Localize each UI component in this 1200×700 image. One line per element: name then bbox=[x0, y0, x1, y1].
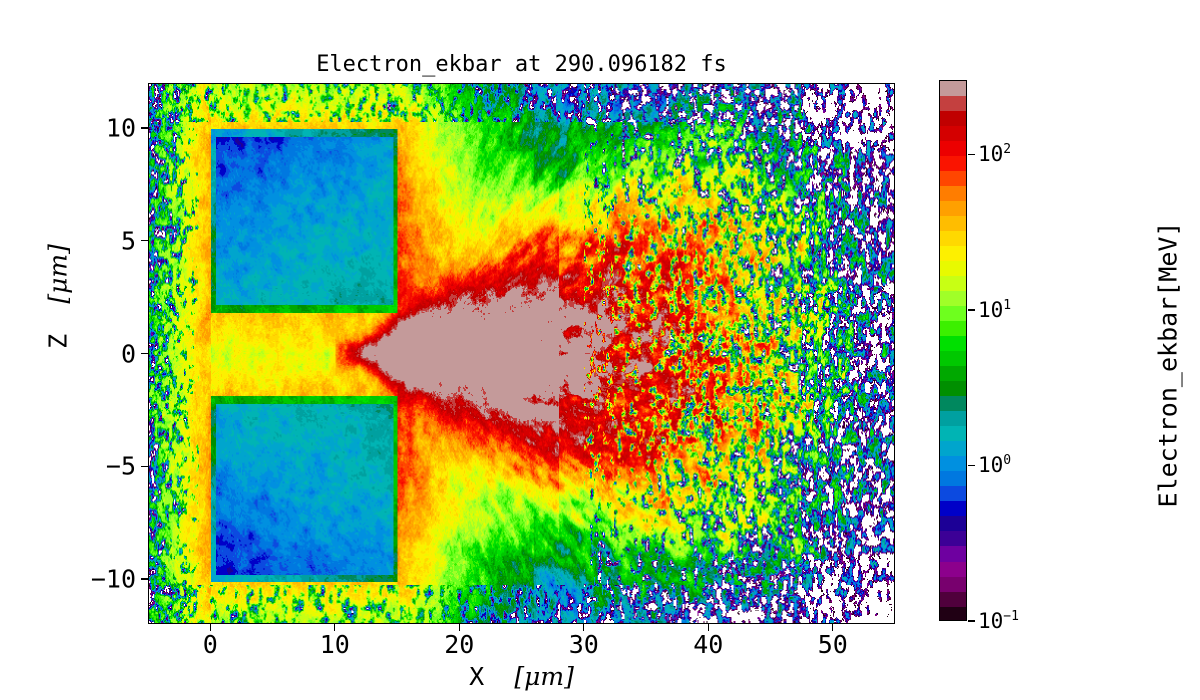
colorbar-tick-label: 102 bbox=[978, 142, 1011, 166]
colorbar-band bbox=[940, 592, 966, 607]
y-tick-mark bbox=[141, 240, 148, 241]
field-heatmap-canvas bbox=[149, 84, 894, 623]
colorbar-band bbox=[940, 231, 966, 246]
colorbar-band bbox=[940, 396, 966, 411]
colorbar-band bbox=[940, 577, 966, 592]
colorbar-band bbox=[940, 546, 966, 561]
y-tick-mark bbox=[141, 127, 148, 128]
y-tick-mark bbox=[141, 353, 148, 354]
colorbar-band bbox=[940, 456, 966, 471]
colorbar-band bbox=[940, 261, 966, 276]
colorbar-band bbox=[940, 607, 966, 621]
colorbar-band bbox=[940, 246, 966, 261]
y-axis-label-main: Z bbox=[44, 334, 73, 349]
colorbar-band bbox=[940, 141, 966, 156]
figure-root: Electron_ekbar at 290.096182 fs 01020304… bbox=[0, 0, 1200, 700]
colorbar-band bbox=[940, 111, 966, 126]
colorbar-band bbox=[940, 96, 966, 111]
colorbar-band bbox=[940, 321, 966, 336]
colorbar-tick-mark bbox=[968, 465, 975, 466]
colorbar-band bbox=[940, 186, 966, 201]
colorbar-band bbox=[940, 486, 966, 501]
plot-axes bbox=[148, 83, 895, 624]
y-axis-label: Z [μm] bbox=[44, 147, 73, 447]
colorbar-band bbox=[940, 531, 966, 546]
colorbar-band bbox=[940, 562, 966, 577]
colorbar-band bbox=[940, 171, 966, 186]
colorbar-label: Electron_ekbar[MeV] bbox=[1154, 105, 1183, 625]
y-tick-label: 0 bbox=[26, 339, 136, 368]
colorbar-band bbox=[940, 336, 966, 351]
colorbar-band bbox=[940, 411, 966, 426]
plot-title: Electron_ekbar at 290.096182 fs bbox=[148, 52, 895, 77]
colorbar-label-main: Electron_ekbar bbox=[1154, 297, 1183, 508]
y-axis-label-unit: [μm] bbox=[44, 244, 73, 303]
colorbar-band bbox=[940, 306, 966, 321]
colorbar-tick-mark bbox=[968, 309, 975, 310]
y-tick-mark bbox=[141, 578, 148, 579]
colorbar-band bbox=[940, 81, 966, 96]
colorbar-tick-mark bbox=[968, 620, 975, 621]
x-tick-label: 30 bbox=[569, 630, 599, 659]
colorbar-band bbox=[940, 441, 966, 456]
colorbar-tick-mark bbox=[968, 154, 975, 155]
x-tick-label: 40 bbox=[693, 630, 723, 659]
colorbar-band bbox=[940, 276, 966, 291]
colorbar-band bbox=[940, 366, 966, 381]
colorbar-band bbox=[940, 291, 966, 306]
y-tick-label: 10 bbox=[26, 114, 136, 143]
x-axis-label: X [μm] bbox=[148, 662, 895, 691]
colorbar-band bbox=[940, 156, 966, 171]
x-tick-label: 0 bbox=[203, 630, 218, 659]
colorbar-band bbox=[940, 216, 966, 231]
x-axis-label-main: X bbox=[469, 662, 484, 691]
colorbar-band bbox=[940, 471, 966, 486]
x-tick-label: 10 bbox=[320, 630, 350, 659]
colorbar-tick-label: 100 bbox=[978, 453, 1011, 477]
y-tick-label: −5 bbox=[26, 452, 136, 481]
colorbar-band bbox=[940, 516, 966, 531]
colorbar bbox=[939, 80, 967, 621]
colorbar-band bbox=[940, 501, 966, 516]
y-tick-label: −10 bbox=[26, 564, 136, 593]
colorbar-band bbox=[940, 126, 966, 141]
x-axis-label-unit: [μm] bbox=[514, 662, 573, 691]
y-tick-label: 5 bbox=[26, 226, 136, 255]
y-tick-mark bbox=[141, 466, 148, 467]
x-tick-label: 50 bbox=[818, 630, 848, 659]
colorbar-band bbox=[940, 201, 966, 216]
colorbar-band bbox=[940, 426, 966, 441]
colorbar-band bbox=[940, 351, 966, 366]
colorbar-tick-label: 10−1 bbox=[978, 609, 1019, 633]
colorbar-band bbox=[940, 381, 966, 396]
x-tick-label: 20 bbox=[444, 630, 474, 659]
colorbar-label-unit: [MeV] bbox=[1154, 222, 1183, 297]
colorbar-tick-label: 101 bbox=[978, 298, 1011, 322]
